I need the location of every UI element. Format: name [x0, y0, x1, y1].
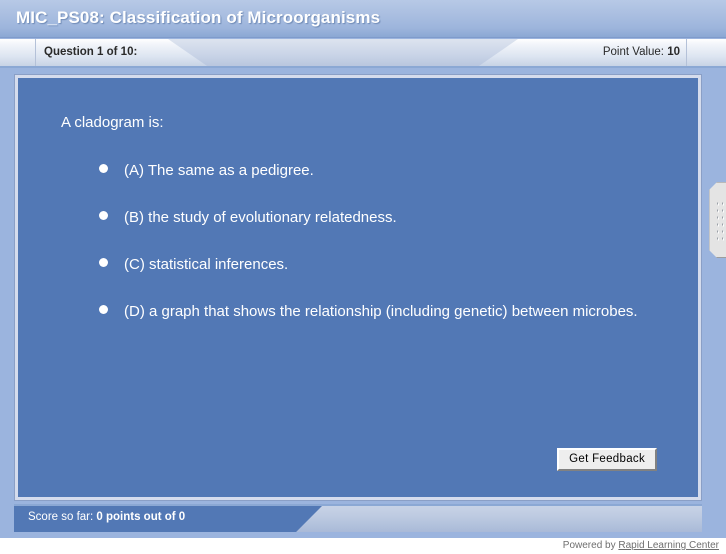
provider-link[interactable]: Rapid Learning Center [618, 540, 719, 551]
answer-choice-c[interactable]: (C) statistical inferences. [90, 252, 650, 277]
answer-choice-d[interactable]: (D) a graph that shows the relationship … [90, 299, 650, 324]
title-bar: MIC_PS08: Classification of Microorganis… [0, 0, 726, 38]
resize-grip-handle[interactable] [709, 182, 726, 258]
page-title: MIC_PS08: Classification of Microorganis… [16, 8, 380, 28]
question-panel: A cladogram is: (A) The same as a pedigr… [18, 78, 698, 497]
powered-by-credit: Powered by Rapid Learning Center [563, 540, 719, 551]
score-status: Score so far: 0 points out of 0 [28, 511, 185, 523]
answer-choice-a-label: (A) The same as a pedigree. [124, 162, 314, 179]
grip-dots-icon [715, 200, 726, 242]
score-bar: Score so far: 0 points out of 0 [14, 504, 702, 532]
question-status-bar: Question 1 of 10: Point Value: 10 [0, 39, 726, 68]
powered-by-label: Powered by [563, 540, 619, 551]
question-progress-label: Question 1 of 10: [44, 46, 137, 58]
bullet-icon [99, 305, 108, 314]
footer-bar: Powered by Rapid Learning Center [0, 538, 726, 554]
bullet-icon [99, 211, 108, 220]
question-bar-right-divider [686, 39, 687, 68]
point-value-container: Point Value: 10 [603, 46, 680, 58]
answer-choice-b[interactable]: (B) the study of evolutionary relatednes… [90, 205, 650, 230]
bullet-icon [99, 258, 108, 267]
question-bar-highlight-shape [168, 39, 518, 68]
bullet-icon [99, 164, 108, 173]
answer-choice-list: (A) The same as a pedigree. (B) the stud… [90, 158, 650, 346]
question-bar-bottom-rule [0, 66, 726, 68]
answer-choice-d-label: (D) a graph that shows the relationship … [124, 303, 638, 320]
score-value: 0 points out of 0 [96, 511, 185, 523]
answer-choice-c-label: (C) statistical inferences. [124, 256, 288, 273]
score-label: Score so far: [28, 511, 96, 523]
question-stem: A cladogram is: [61, 114, 164, 131]
question-panel-border: A cladogram is: (A) The same as a pedigr… [14, 74, 702, 501]
get-feedback-button[interactable]: Get Feedback [557, 448, 657, 471]
score-bar-top-rule [14, 504, 702, 506]
answer-choice-b-label: (B) the study of evolutionary relatednes… [124, 209, 397, 226]
answer-choice-a[interactable]: (A) The same as a pedigree. [90, 158, 650, 183]
application-frame: MIC_PS08: Classification of Microorganis… [0, 0, 726, 538]
point-value-label: Point Value: [603, 46, 667, 58]
quiz-application-window: MIC_PS08: Classification of Microorganis… [0, 0, 726, 554]
point-value-number: 10 [667, 46, 680, 58]
question-bar-left-divider [35, 39, 36, 68]
